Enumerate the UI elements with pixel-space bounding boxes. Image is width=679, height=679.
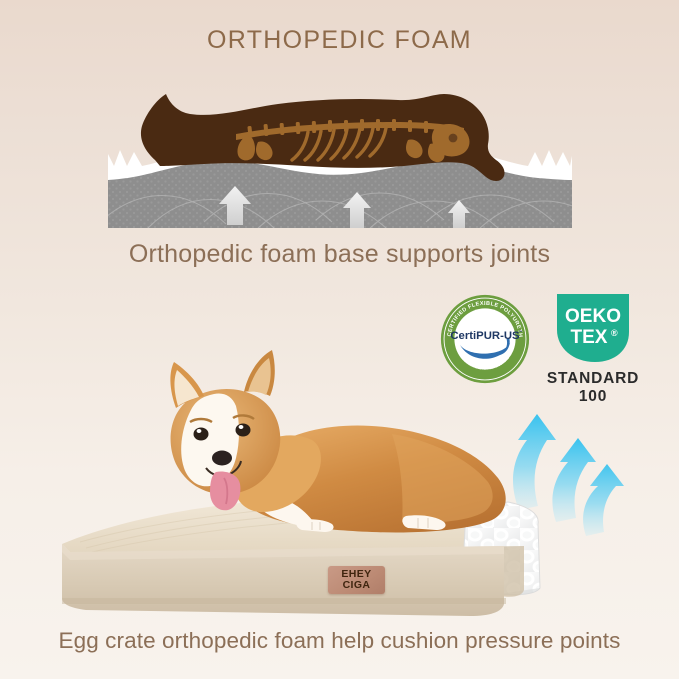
caption-egg-crate: Egg crate orthopedic foam help cushion p… <box>0 628 679 654</box>
page-title: ORTHOPEDIC FOAM <box>0 26 679 55</box>
oeko-text-line1: OEKO <box>565 306 621 327</box>
orthopedic-foam-cutaway-diagram <box>108 82 572 228</box>
dog-bed-side-panel <box>62 544 524 616</box>
caption-orthopedic-base: Orthopedic foam base supports joints <box>0 240 679 269</box>
dog-nose <box>212 451 232 466</box>
product-infographic: ORTHOPEDIC FOAM <box>0 0 679 679</box>
brand-label-patch: EHEY CIGA <box>328 566 385 594</box>
brand-label-line2: CIGA <box>343 580 371 591</box>
corgi-dog <box>170 350 505 533</box>
